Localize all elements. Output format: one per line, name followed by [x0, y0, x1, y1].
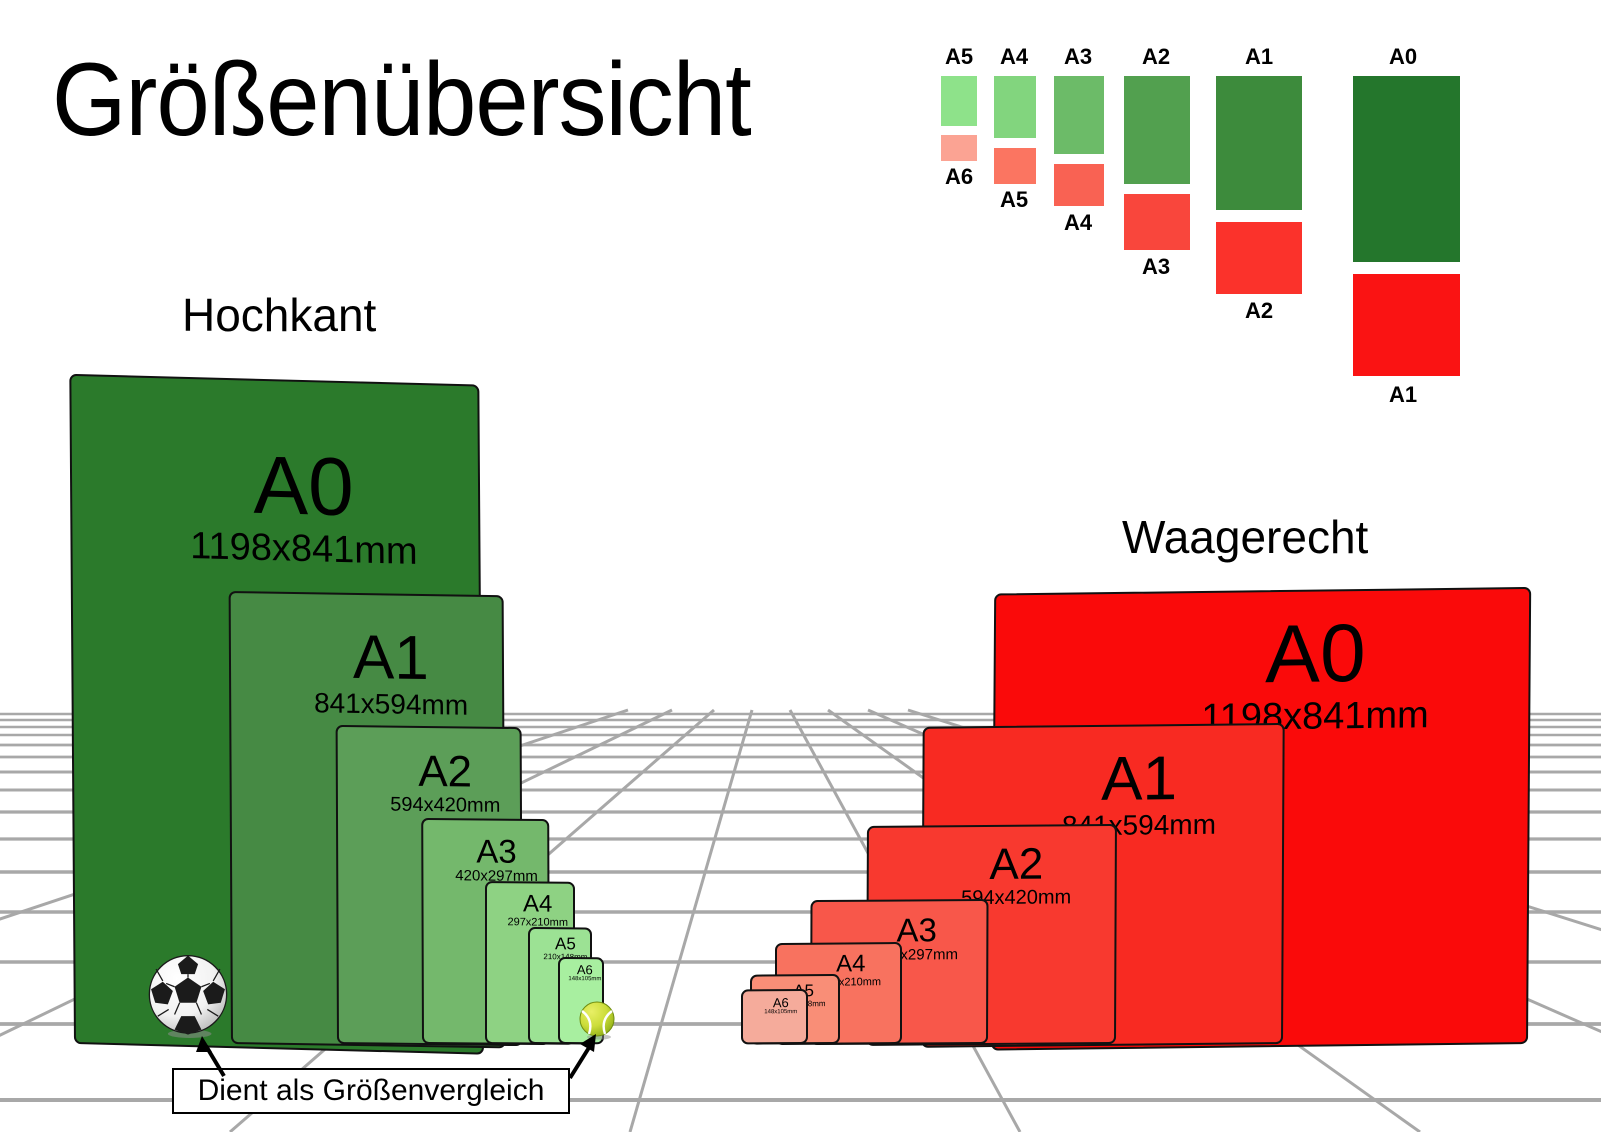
sheet-dims: 1198x841mm [145, 526, 462, 572]
legend-bottom-label: A2 [1209, 298, 1309, 324]
legend-bottom-label: A6 [934, 164, 984, 190]
legend-red-rect [1216, 222, 1302, 294]
landscape-section-heading: Waagerecht [1122, 510, 1368, 564]
legend-bottom-label: A4 [1047, 210, 1109, 236]
portrait-section-heading: Hochkant [182, 288, 376, 342]
sheet-dims: 841x594mm [285, 689, 497, 720]
sheet-code: A3 [448, 834, 545, 868]
sheet-code: A1 [285, 626, 497, 691]
sheet-code: A2 [923, 842, 1110, 887]
sheet-code: A6 [757, 996, 805, 1009]
page-title: Größenübersicht [52, 46, 751, 155]
sheet-dims: 148x105mm [568, 976, 601, 982]
sheet-landscape-a6: A6 148x105mm [741, 989, 808, 1044]
legend-green-rect [1353, 76, 1460, 262]
legend-top-label: A0 [1328, 44, 1478, 70]
legend-bottom-label: A5 [987, 187, 1041, 213]
sheet-code: A6 [568, 963, 601, 976]
poster-canvas: Größenübersicht A5 A6 A4 A5 A3 A4 A2 [0, 0, 1601, 1132]
legend-top-label: A3 [1047, 44, 1109, 70]
legend-green-rect [941, 76, 977, 126]
sheet-code: A4 [504, 892, 571, 917]
legend-red-rect [1054, 164, 1104, 206]
callout-text: Dient als Größenvergleich [198, 1074, 545, 1108]
sheet-code: A4 [804, 952, 897, 977]
sheet-code: A0 [1113, 611, 1519, 698]
sheet-dims: 594x420mm [374, 794, 516, 816]
legend-red-rect [994, 148, 1036, 184]
sheet-code: A1 [1003, 747, 1275, 812]
tennis-ball-icon [578, 1000, 618, 1040]
soccer-ball-icon [146, 954, 230, 1038]
legend-green-rect [1216, 76, 1302, 210]
legend-red-rect [1124, 194, 1190, 250]
legend-bottom-label: A3 [1117, 254, 1195, 280]
legend-top-label: A2 [1117, 44, 1195, 70]
sheet-code: A2 [374, 749, 516, 795]
sheet-dims: 148x105mm [757, 1009, 805, 1015]
legend-bottom-label: A1 [1328, 382, 1478, 408]
legend-top-label: A4 [987, 44, 1041, 70]
legend-green-rect [1054, 76, 1104, 154]
legend-top-label: A1 [1209, 44, 1309, 70]
sheet-code: A0 [145, 442, 462, 532]
size-comparison-callout: Dient als Größenvergleich [172, 1068, 570, 1114]
legend-green-rect [994, 76, 1036, 138]
legend-green-rect [1124, 76, 1190, 184]
sheet-code: A5 [542, 935, 589, 952]
legend-top-label: A5 [934, 44, 984, 70]
legend-red-rect [941, 135, 977, 161]
legend-size-comparison: A5 A6 A4 A5 A3 A4 A2 A3 A1 [928, 44, 1593, 474]
legend-red-rect [1353, 274, 1460, 376]
